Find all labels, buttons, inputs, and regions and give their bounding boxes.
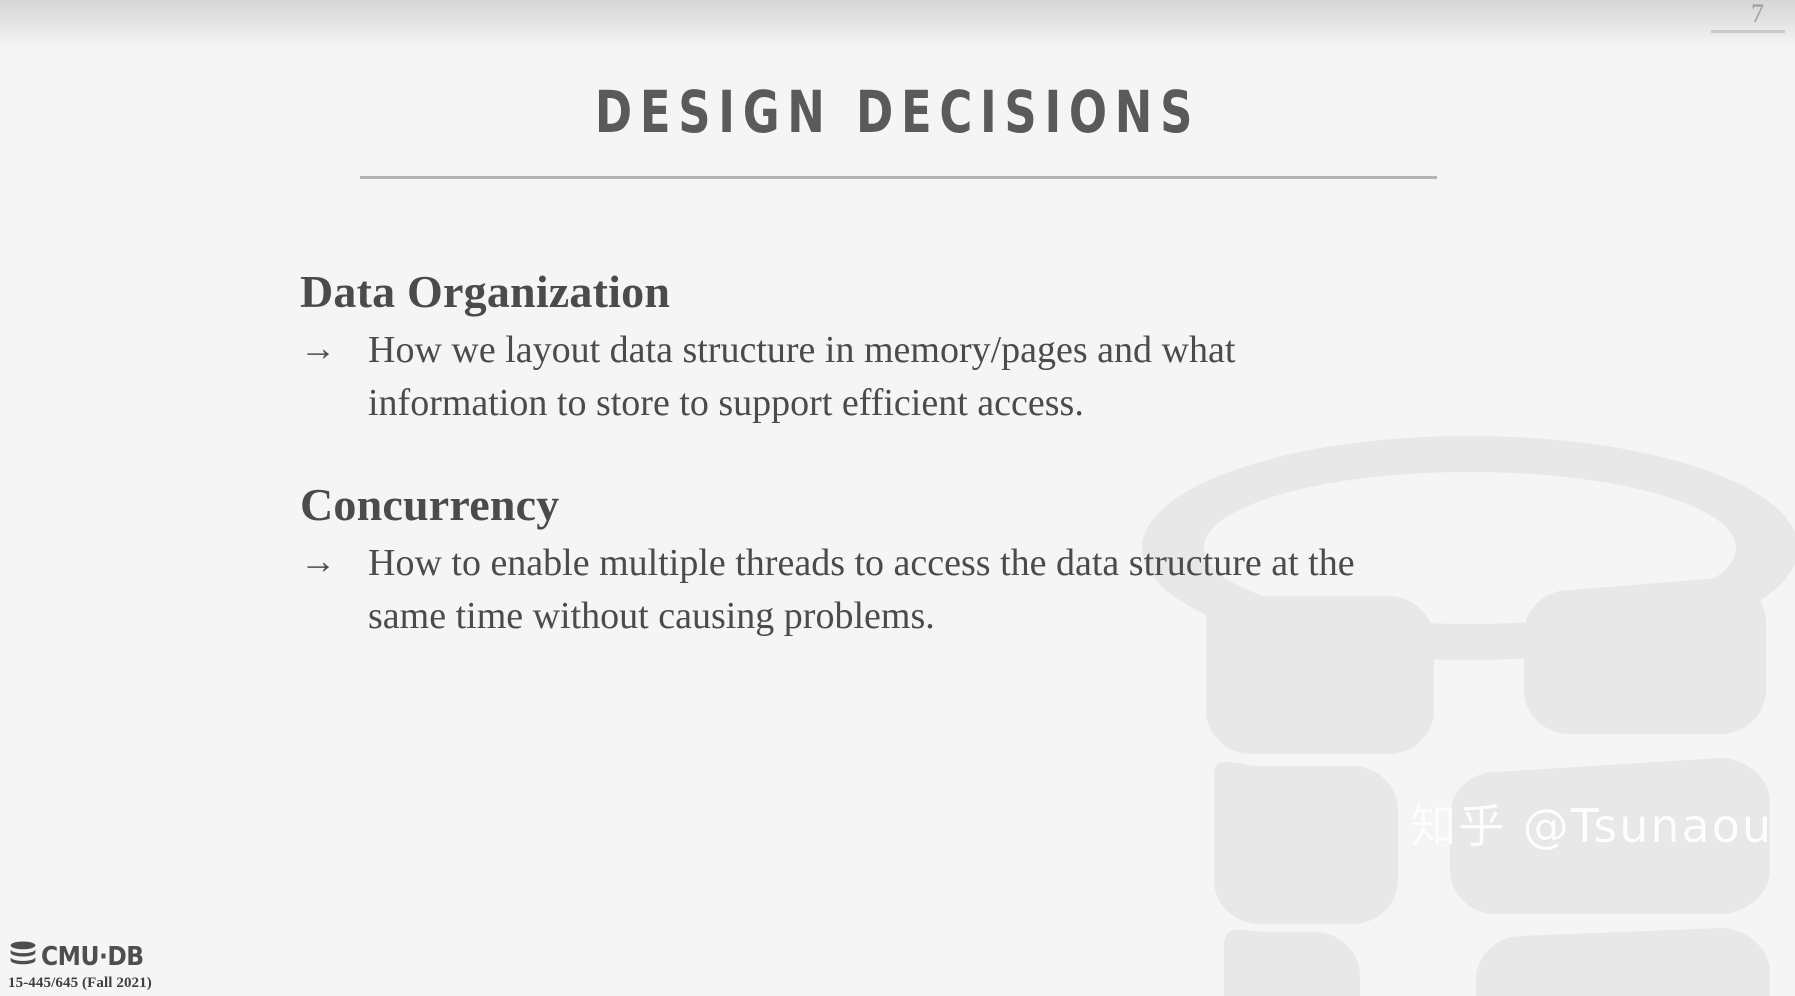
bullet-item: → How to enable multiple threads to acce… — [300, 537, 1550, 642]
page-number-rule — [1711, 30, 1785, 33]
top-gradient-band — [0, 0, 1795, 46]
arrow-right-icon: → — [300, 537, 368, 587]
section-concurrency: Concurrency → How to enable multiple thr… — [300, 481, 1550, 642]
course-label: 15-445/645 (Fall 2021) — [8, 975, 152, 992]
slide-canvas: 7 DESIGN DECISIONS — [0, 0, 1795, 996]
footer: CMU·DB 15-445/645 (Fall 2021) — [8, 941, 152, 992]
page-number: 7 — [1751, 1, 1764, 27]
title-underline-rule — [360, 176, 1437, 179]
bullet-text: How to enable multiple threads to access… — [368, 537, 1368, 642]
cmu-db-logo: CMU·DB — [8, 941, 152, 972]
bullet-item: → How we layout data structure in memory… — [300, 324, 1550, 429]
bullet-text: How we layout data structure in memory/p… — [368, 324, 1368, 429]
cmu-db-logo-text: CMU·DB — [41, 944, 144, 970]
page-title: DESIGN DECISIONS — [126, 78, 1670, 146]
section-heading: Concurrency — [300, 481, 1550, 529]
database-cylinder-icon — [8, 941, 38, 972]
zhihu-watermark: 知乎 @Tsunaou — [1410, 790, 1773, 856]
section-heading: Data Organization — [300, 268, 1550, 316]
slide-body: Data Organization → How we layout data s… — [300, 268, 1550, 642]
section-data-organization: Data Organization → How we layout data s… — [300, 268, 1550, 429]
arrow-right-icon: → — [300, 324, 368, 374]
